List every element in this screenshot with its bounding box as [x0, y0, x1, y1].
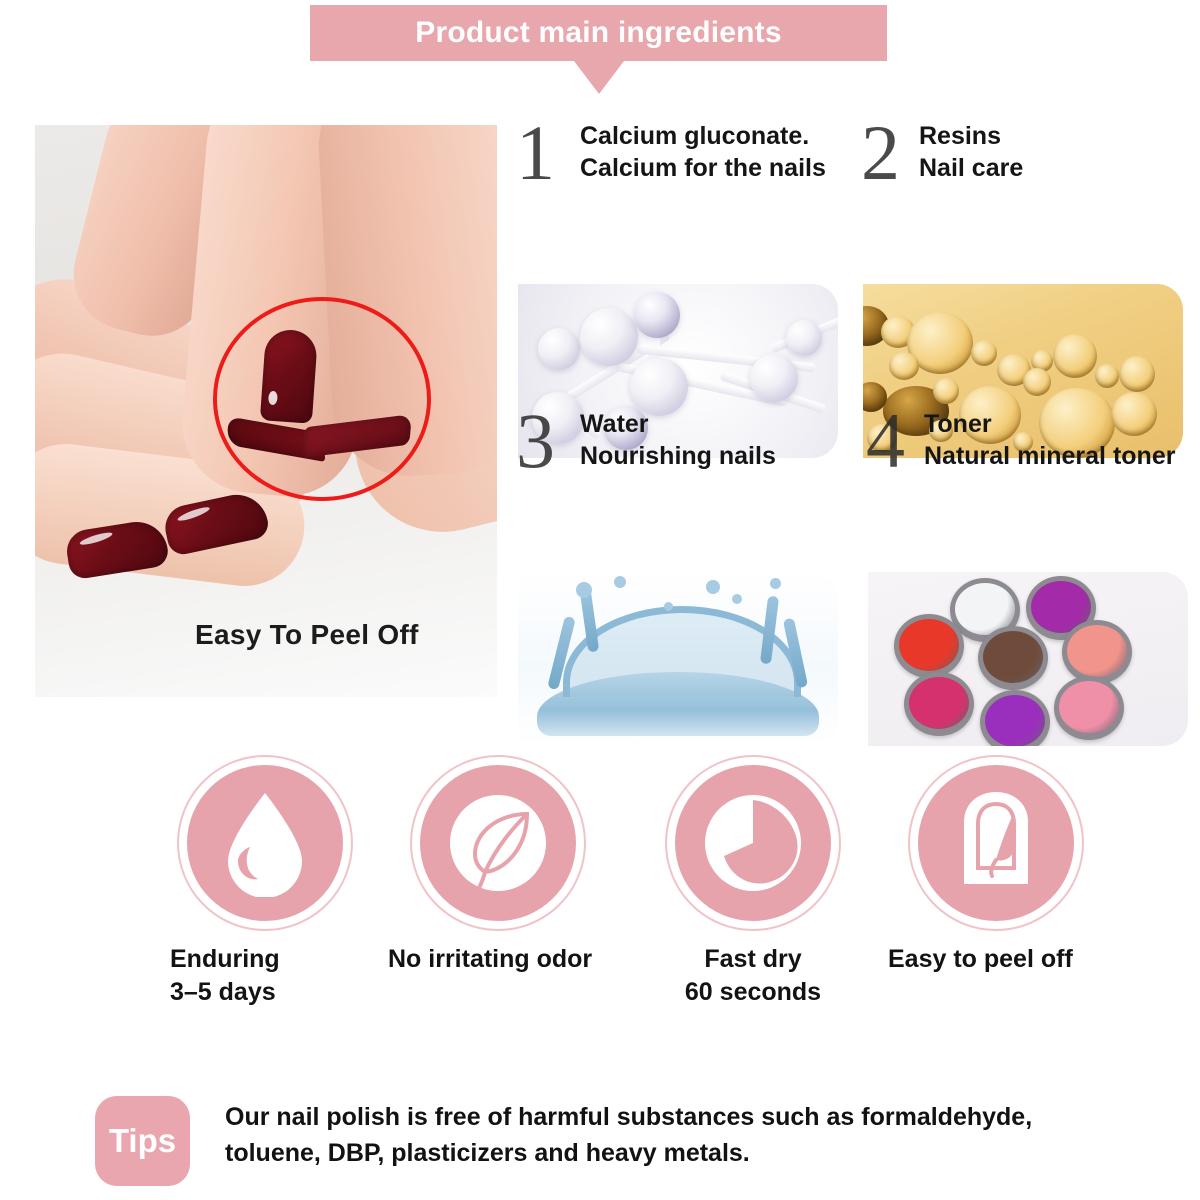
tips-line-1: Our nail polish is free of harmful subst…	[225, 1100, 1135, 1136]
ingredient-3-header: 3 Water Nourishing nails	[516, 406, 841, 486]
ingredient-4-header: 4 Toner Natural mineral toner	[866, 406, 1191, 486]
leaf-icon	[420, 765, 576, 921]
header-banner: Product main ingredients	[310, 5, 887, 61]
feature-badge-circle	[410, 755, 586, 931]
ingredient-3-line1: Water	[580, 408, 776, 440]
tips-badge: Tips	[95, 1096, 190, 1186]
feature-badges: Enduring 3–5 days No irritating odor	[140, 755, 1090, 1030]
feature-fast-dry-line2: 60 seconds	[685, 978, 821, 1006]
feature-badge-circle	[665, 755, 841, 931]
feature-no-odor-line1: No irritating odor	[388, 945, 592, 973]
ingredient-item-4: 4 Toner Natural mineral toner	[866, 406, 1191, 660]
water-drop-icon	[187, 765, 343, 921]
feature-badge-circle	[908, 755, 1084, 931]
highlight-circle-annotation	[213, 297, 431, 501]
water-splash-image	[518, 572, 838, 746]
ingredient-3-number: 3	[516, 402, 555, 480]
feature-fast-dry-label: Fast dry 60 seconds	[638, 943, 868, 1008]
ingredient-item-2: 2 Resins Nail care	[861, 118, 1186, 372]
ingredient-item-1: 1 Calcium gluconate. Calcium for the nai…	[516, 118, 841, 372]
feature-enduring-line2: 3–5 days	[170, 978, 276, 1006]
powder-dish	[1062, 620, 1132, 684]
powder-dish	[894, 614, 964, 678]
feature-badge-circle	[177, 755, 353, 931]
feature-enduring-label: Enduring 3–5 days	[150, 943, 380, 1008]
ingredient-2-header: 2 Resins Nail care	[861, 118, 1186, 198]
feature-easy-peel: Easy to peel off	[880, 755, 1110, 976]
tips-body: Our nail polish is free of harmful subst…	[225, 1100, 1135, 1171]
tips-line-2: toluene, DBP, plasticizers and heavy met…	[225, 1136, 1135, 1172]
ingredient-3-line2: Nourishing nails	[580, 440, 776, 472]
banner-pointer-triangle	[574, 61, 624, 94]
ingredient-4-text: Toner Natural mineral toner	[924, 408, 1175, 472]
feature-enduring: Enduring 3–5 days	[150, 755, 380, 1008]
ingredient-3-text: Water Nourishing nails	[580, 408, 776, 472]
ingredient-2-line2: Nail care	[919, 152, 1023, 184]
feature-easy-peel-line1: Easy to peel off	[888, 945, 1073, 973]
feature-no-odor: No irritating odor	[388, 755, 618, 976]
feature-enduring-line1: Enduring	[170, 945, 280, 973]
feature-no-odor-label: No irritating odor	[388, 943, 618, 976]
ingredient-2-line1: Resins	[919, 120, 1023, 152]
ingredient-1-header: 1 Calcium gluconate. Calcium for the nai…	[516, 118, 841, 198]
clock-icon	[675, 765, 831, 921]
ingredient-4-number: 4	[866, 402, 903, 480]
feature-easy-peel-label: Easy to peel off	[880, 943, 1110, 976]
page-title: Product main ingredients	[415, 16, 782, 50]
powder-dish	[980, 690, 1050, 746]
mineral-powder-dishes-image	[868, 572, 1188, 746]
feature-fast-dry: Fast dry 60 seconds	[638, 755, 868, 1008]
ingredients-grid: 1 Calcium gluconate. Calcium for the nai…	[516, 118, 1186, 698]
hero-peel-photo: Easy To Peel Off	[35, 125, 497, 697]
ingredient-1-number: 1	[516, 114, 555, 192]
ingredient-2-text: Resins Nail care	[919, 120, 1023, 184]
header-banner-bar: Product main ingredients	[310, 5, 887, 61]
powder-dish	[1054, 676, 1124, 740]
ingredient-1-text: Calcium gluconate. Calcium for the nails	[580, 120, 826, 184]
powder-dish	[978, 626, 1048, 690]
ingredient-item-3: 3 Water Nourishing nails	[516, 406, 841, 660]
ingredient-2-number: 2	[861, 114, 900, 192]
powder-dish	[904, 672, 974, 736]
peel-nail-icon	[918, 765, 1074, 921]
tips-badge-label: Tips	[109, 1122, 176, 1160]
ingredient-4-line1: Toner	[924, 408, 1175, 440]
hero-caption: Easy To Peel Off	[195, 619, 419, 651]
tips-footer: Tips Our nail polish is free of harmful …	[95, 1096, 1135, 1192]
feature-fast-dry-line1: Fast dry	[704, 945, 801, 973]
ingredient-4-line2: Natural mineral toner	[924, 440, 1175, 472]
ingredient-1-line2: Calcium for the nails	[580, 152, 826, 184]
ingredient-1-line1: Calcium gluconate.	[580, 120, 826, 152]
